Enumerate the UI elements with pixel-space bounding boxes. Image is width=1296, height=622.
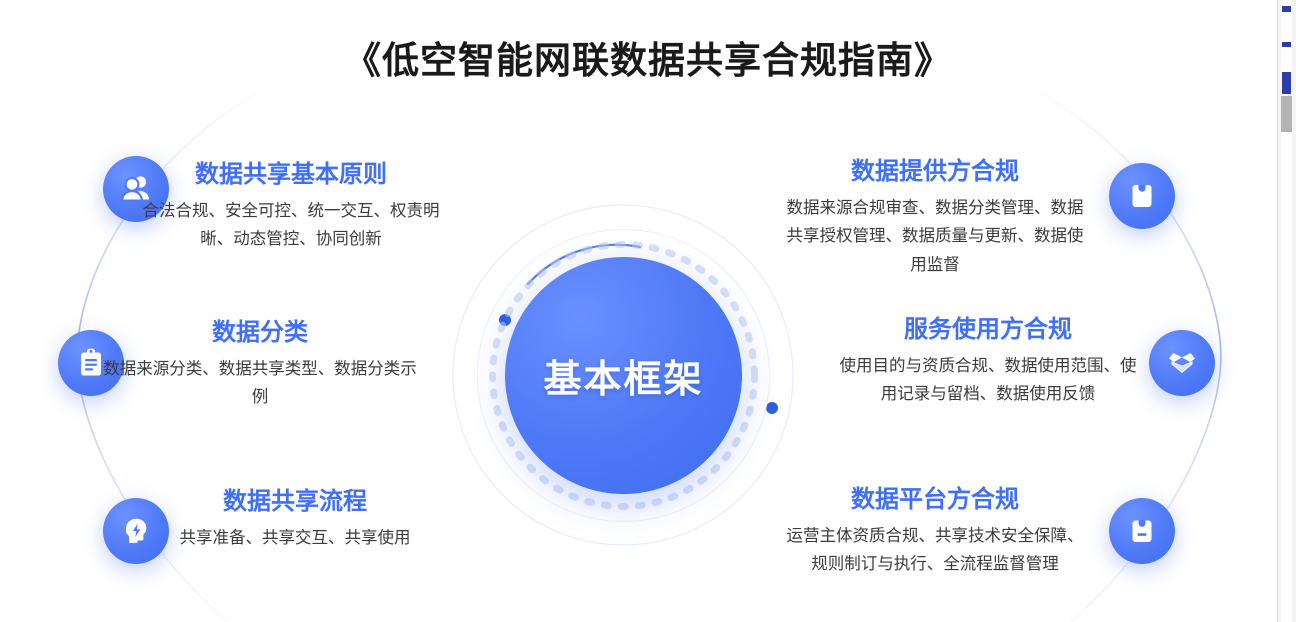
node-title: 数据分类 [100,318,420,348]
sliver-fleck-lower [1282,72,1291,94]
node-text-block: 数据平台方合规 运营主体资质合规、共享技术安全保障、规则制订与执行、全流程监督管… [785,485,1085,579]
node-description: 数据来源分类、数据共享类型、数据分类示例 [100,355,420,412]
node-title: 数据提供方合规 [785,157,1085,187]
page-title: 《低空智能网联数据共享合规指南》 [0,30,1296,84]
open-box-icon [1149,330,1215,396]
node-title: 数据平台方合规 [785,485,1085,515]
hub-label: 基本框架 [543,348,703,403]
node-text-block: 数据提供方合规 数据来源合规审查、数据分类管理、数据共享授权管理、数据质量与更新… [785,157,1085,279]
node-text-block: 数据共享基本原则 合法合规、安全可控、统一交互、权责明晰、动态管控、协同创新 [141,160,441,254]
center-hub: 基本框架 [505,257,742,494]
node-title: 数据共享基本原则 [141,160,441,190]
sliver-fleck-mid [1282,42,1291,47]
adjacent-window-sliver [1277,0,1296,622]
document-bag-icon [1109,498,1175,564]
sliver-fleck-top [1282,6,1291,12]
node-title: 数据共享流程 [135,487,455,517]
node-description: 共享准备、共享交互、共享使用 [135,524,455,552]
node-text-block: 数据共享流程 共享准备、共享交互、共享使用 [135,487,455,552]
node-title: 服务使用方合规 [838,315,1138,345]
hub-circle: 基本框架 [505,257,742,494]
node-description: 数据来源合规审查、数据分类管理、数据共享授权管理、数据质量与更新、数据使用监督 [785,194,1085,279]
node-text-block: 数据分类 数据来源分类、数据共享类型、数据分类示例 [100,318,420,412]
node-description: 使用目的与资质合规、数据使用范围、使用记录与留档、数据使用反馈 [838,352,1138,409]
node-description: 运营主体资质合规、共享技术安全保障、规则制订与执行、全流程监督管理 [785,522,1085,579]
node-text-block: 服务使用方合规 使用目的与资质合规、数据使用范围、使用记录与留档、数据使用反馈 [838,315,1138,409]
document-check-icon [1109,163,1175,229]
node-description: 合法合规、安全可控、统一交互、权责明晰、动态管控、协同创新 [141,197,441,254]
scrollbar-thumb[interactable] [1281,96,1292,132]
infographic-canvas: 《低空智能网联数据共享合规指南》 基本框架 数据共享基本原则 合法合规、安全可控… [0,0,1296,622]
